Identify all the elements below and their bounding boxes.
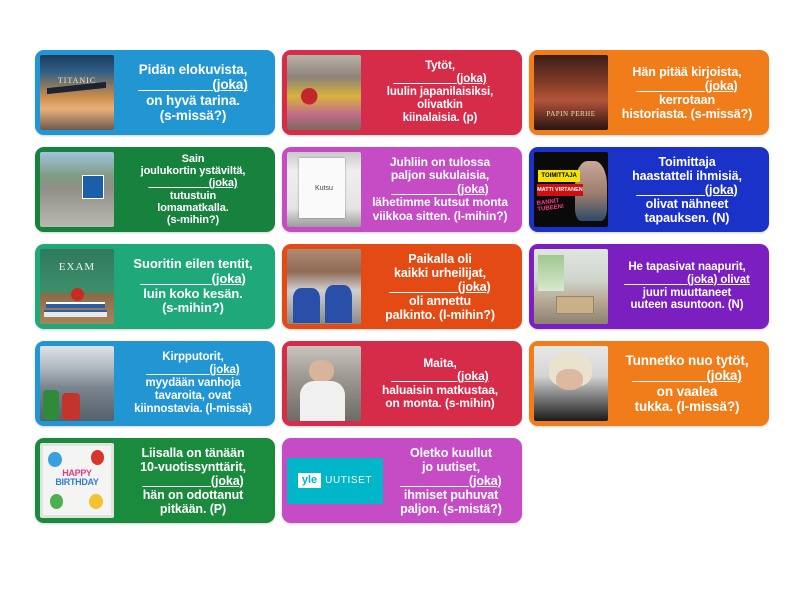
card-text: Juhliin on tulossa paljon sukulaisia, __… bbox=[361, 152, 517, 227]
card-item[interactable]: EXAM Suoritin eilen tentit, __________(j… bbox=[35, 244, 275, 329]
card-line-blank: __________(joka) olivat bbox=[614, 274, 760, 287]
card-line: olivat nähneet bbox=[614, 197, 760, 211]
card-text: Tunnetko nuo tytöt, __________(joka) on … bbox=[608, 346, 764, 421]
card-item[interactable]: yle UUTISET Oletko kuullut jo uutiset, _… bbox=[282, 438, 522, 523]
card-line-blank: __________(joka) bbox=[367, 280, 513, 294]
card-line-blank: __________(joka) bbox=[614, 183, 760, 197]
papin-perhe-book-cover-image bbox=[534, 55, 608, 130]
card-line-hint: (s-mihin?) bbox=[120, 214, 266, 226]
card-line: tutustuin bbox=[120, 190, 266, 202]
card-line: Sain bbox=[120, 153, 266, 165]
card-line: olivatkin bbox=[367, 99, 513, 112]
card-item[interactable]: HAPPYBIRTHDAY Liisalla on tänään 10-vuot… bbox=[35, 438, 275, 523]
card-line-hint: pitkään. (P) bbox=[120, 502, 266, 516]
card-line: on hyvä tarina. bbox=[120, 93, 266, 108]
card-line-blank: __________(joka) bbox=[120, 272, 266, 287]
card-line: joulukortin ystäviltä, bbox=[120, 165, 266, 177]
flea-market-photo-image bbox=[40, 346, 114, 421]
balloon-shape-blue bbox=[48, 452, 62, 467]
card-text: Oletko kuullut jo uutiset, __________(jo… bbox=[383, 443, 517, 518]
card-line: haluaisin matkustaa, bbox=[367, 384, 513, 397]
thumbnail-label-name: MATTI VIRTANEN bbox=[537, 184, 583, 195]
card-text: Maita, __________(joka) haluaisin matkus… bbox=[361, 346, 517, 421]
exam-chalk-text: EXAM bbox=[40, 261, 114, 273]
exam-books-apple-photo-image: EXAM bbox=[40, 249, 114, 324]
book-shape-second bbox=[44, 310, 107, 317]
athletes-runners-photo-image bbox=[287, 249, 361, 324]
card-line: Paikalla oli bbox=[367, 252, 513, 266]
toimittaja-matti-virtanen-thumbnail-image: TOIMITTAJA MATTI VIRTANEN BANNIT TUBEEN! bbox=[534, 152, 608, 227]
card-item[interactable]: TOIMITTAJA MATTI VIRTANEN BANNIT TUBEEN!… bbox=[529, 147, 769, 232]
card-line-blank: __________(joka) bbox=[120, 77, 266, 92]
card-text: Liisalla on tänään 10-vuotissynttärit, _… bbox=[114, 443, 270, 518]
happy-birthday-text: HAPPYBIRTHDAY bbox=[43, 469, 111, 487]
card-line: 10-vuotissynttärit, bbox=[120, 460, 266, 474]
card-line: Oletko kuullut bbox=[389, 446, 513, 460]
card-line: Tunnetko nuo tytöt, bbox=[614, 353, 760, 368]
card-item[interactable]: Tunnetko nuo tytöt, __________(joka) on … bbox=[529, 341, 769, 426]
card-line: Toimittaja bbox=[614, 155, 760, 169]
card-line: luulin japanilaisiksi, bbox=[367, 86, 513, 99]
card-text: Sain joulukortin ystäviltä, __________(j… bbox=[114, 152, 270, 227]
card-line-hint: tukka. (l-missä?) bbox=[614, 399, 760, 414]
blonde-woman-photo-image bbox=[534, 346, 608, 421]
titanic-dvd-cover-image bbox=[40, 55, 114, 130]
card-text: Hän pitää kirjoista, __________(joka) ke… bbox=[608, 55, 764, 130]
card-line-blank: __________(joka) bbox=[120, 177, 266, 189]
card-text: Pidän elokuvista, __________(joka) on hy… bbox=[114, 55, 270, 130]
card-line: Maita, bbox=[367, 357, 513, 370]
card-line-blank: __________(joka) bbox=[120, 474, 266, 488]
card-line: Pidän elokuvista, bbox=[120, 62, 266, 77]
card-line: Tytöt, bbox=[367, 60, 513, 73]
card-line: lomamatkalla. bbox=[120, 202, 266, 214]
card-line: myydään vanhoja bbox=[120, 377, 266, 390]
happy-birthday-card-image: HAPPYBIRTHDAY bbox=[40, 443, 114, 518]
card-item[interactable]: Kirpputorit, __________(joka) myydään va… bbox=[35, 341, 275, 426]
card-line-blank: __________(joka) bbox=[614, 368, 760, 383]
card-line-hint: uuteen asuntoon. (N) bbox=[614, 299, 760, 312]
roadside-travellers-photo-image bbox=[40, 152, 114, 227]
card-line-blank: __________(joka) bbox=[614, 79, 760, 93]
card-line: paljon sukulaisia, bbox=[367, 169, 513, 182]
card-line: juuri muuttaneet bbox=[614, 287, 760, 300]
card-line: Kirpputorit, bbox=[120, 351, 266, 364]
card-line: He tapasivat naapurit, bbox=[614, 261, 760, 274]
card-line-blank: __________(joka) bbox=[367, 183, 513, 196]
card-line: Hän pitää kirjoista, bbox=[614, 65, 760, 79]
card-text: Toimittaja haastatteli ihmisiä, ________… bbox=[608, 152, 764, 227]
card-grid: Pidän elokuvista, __________(joka) on hy… bbox=[35, 50, 775, 523]
card-item[interactable]: Sain joulukortin ystäviltä, __________(j… bbox=[35, 147, 275, 232]
card-line-hint: paljon. (s-mistä?) bbox=[389, 502, 513, 516]
card-line-blank: __________(joka) bbox=[120, 364, 266, 377]
balloon-shape-yellow bbox=[89, 494, 103, 509]
card-line-hint: palkinto. (l-mihin?) bbox=[367, 308, 513, 322]
card-item[interactable]: Maita, __________(joka) haluaisin matkus… bbox=[282, 341, 522, 426]
card-line-hint: on monta. (s-mihin) bbox=[367, 397, 513, 410]
yle-wordmark: yle bbox=[298, 473, 321, 488]
card-line: kerrotaan bbox=[614, 93, 760, 107]
uutiset-wordmark: UUTISET bbox=[325, 475, 372, 486]
card-item[interactable]: Pidän elokuvista, __________(joka) on hy… bbox=[35, 50, 275, 135]
card-line-blank: __________(joka) bbox=[389, 474, 513, 488]
card-text: Paikalla oli kaikki urheilijat, ________… bbox=[361, 249, 517, 324]
card-line: lähetimme kutsut monta bbox=[367, 196, 513, 209]
card-line-blank: __________(joka) bbox=[367, 73, 513, 86]
card-line-blank: __________(joka) bbox=[367, 370, 513, 383]
card-item[interactable]: He tapasivat naapurit, __________(joka) … bbox=[529, 244, 769, 329]
apple-shape bbox=[71, 288, 84, 301]
card-line-hint: kiinalaisia. (p) bbox=[367, 112, 513, 125]
apartment-living-room-photo-image bbox=[534, 249, 608, 324]
card-line: hän on odottanut bbox=[120, 488, 266, 502]
card-line: kaikki urheilijat, bbox=[367, 266, 513, 280]
card-line: Juhliin on tulossa bbox=[367, 156, 513, 169]
card-item[interactable]: Paikalla oli kaikki urheilijat, ________… bbox=[282, 244, 522, 329]
card-line-hint: tapauksen. (N) bbox=[614, 211, 760, 225]
book-shape bbox=[46, 302, 105, 309]
card-line: luin koko kesän. bbox=[120, 287, 266, 302]
card-text: Tytöt, __________(joka) luulin japanilai… bbox=[361, 55, 517, 130]
card-item[interactable]: Hän pitää kirjoista, __________(joka) ke… bbox=[529, 50, 769, 135]
kutsu-invitation-card-image bbox=[287, 152, 361, 227]
card-item[interactable]: Tytöt, __________(joka) luulin japanilai… bbox=[282, 50, 522, 135]
card-item[interactable]: Juhliin on tulossa paljon sukulaisia, __… bbox=[282, 147, 522, 232]
balloon-shape-red bbox=[91, 450, 105, 465]
card-text: Kirpputorit, __________(joka) myydään va… bbox=[114, 346, 270, 421]
card-text: He tapasivat naapurit, __________(joka) … bbox=[608, 249, 764, 324]
card-line: Liisalla on tänään bbox=[120, 446, 266, 460]
thumbnail-label-toimittaja: TOIMITTAJA bbox=[538, 170, 579, 182]
yle-uutiset-logo-image: yle UUTISET bbox=[287, 458, 383, 504]
card-line: jo uutiset, bbox=[389, 460, 513, 474]
card-line: ihmiset puhuvat bbox=[389, 488, 513, 502]
card-line: tavaroita, ovat bbox=[120, 390, 266, 403]
card-line-hint: (s-mihin?) bbox=[120, 301, 266, 316]
card-line-hint: historiasta. (s-missä?) bbox=[614, 107, 760, 121]
kimono-girls-photo-image bbox=[287, 55, 361, 130]
card-line: Suoritin eilen tentit, bbox=[120, 257, 266, 272]
card-board: Pidän elokuvista, __________(joka) on hy… bbox=[0, 0, 800, 600]
card-line-hint: (s-missä?) bbox=[120, 108, 266, 123]
balloon-shape-green bbox=[50, 494, 64, 509]
man-at-airport-photo-image bbox=[287, 346, 361, 421]
card-text: Suoritin eilen tentit, __________(joka) … bbox=[114, 249, 270, 324]
card-line-hint: kiinnostavia. (l-missä) bbox=[120, 403, 266, 416]
card-line: haastatteli ihmisiä, bbox=[614, 169, 760, 183]
card-line-hint: viikkoa sitten. (l-mihin?) bbox=[367, 210, 513, 223]
card-line: oli annettu bbox=[367, 294, 513, 308]
card-line: on vaalea bbox=[614, 384, 760, 399]
